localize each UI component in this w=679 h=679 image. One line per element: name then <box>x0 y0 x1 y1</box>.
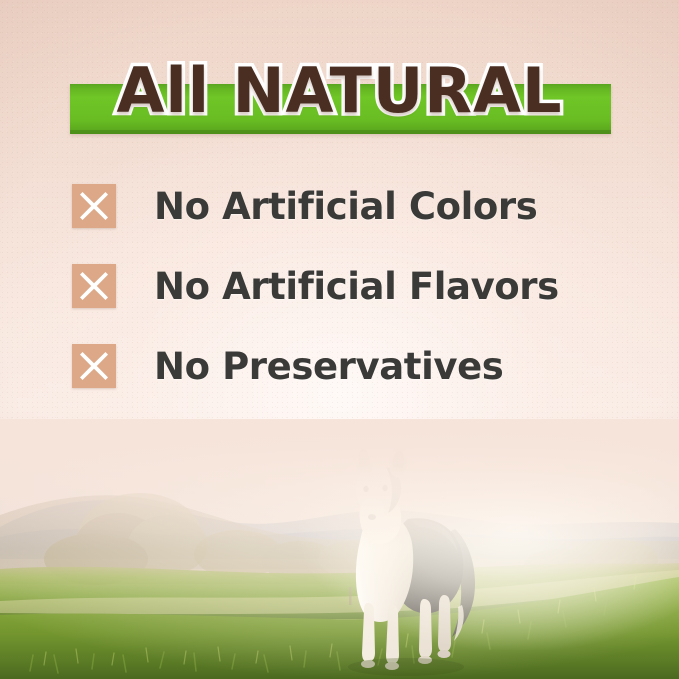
list-item: No Artificial Flavors <box>72 246 632 326</box>
product-feature-poster: All NATURAL No Artificial Colors No Arti… <box>0 0 679 679</box>
x-mark-icon <box>72 264 116 308</box>
x-mark-icon <box>72 344 116 388</box>
list-item-label: No Preservatives <box>154 345 503 388</box>
list-item: No Artificial Colors <box>72 166 632 246</box>
poster-title: All NATURAL <box>0 48 679 134</box>
list-item: No Preservatives <box>72 326 632 406</box>
title-banner: All NATURAL <box>0 46 679 138</box>
list-item-label: No Artificial Flavors <box>154 265 559 308</box>
x-mark-icon <box>72 184 116 228</box>
list-item-label: No Artificial Colors <box>154 185 537 228</box>
photo-scene <box>0 419 679 679</box>
lifestyle-photo <box>0 419 679 679</box>
